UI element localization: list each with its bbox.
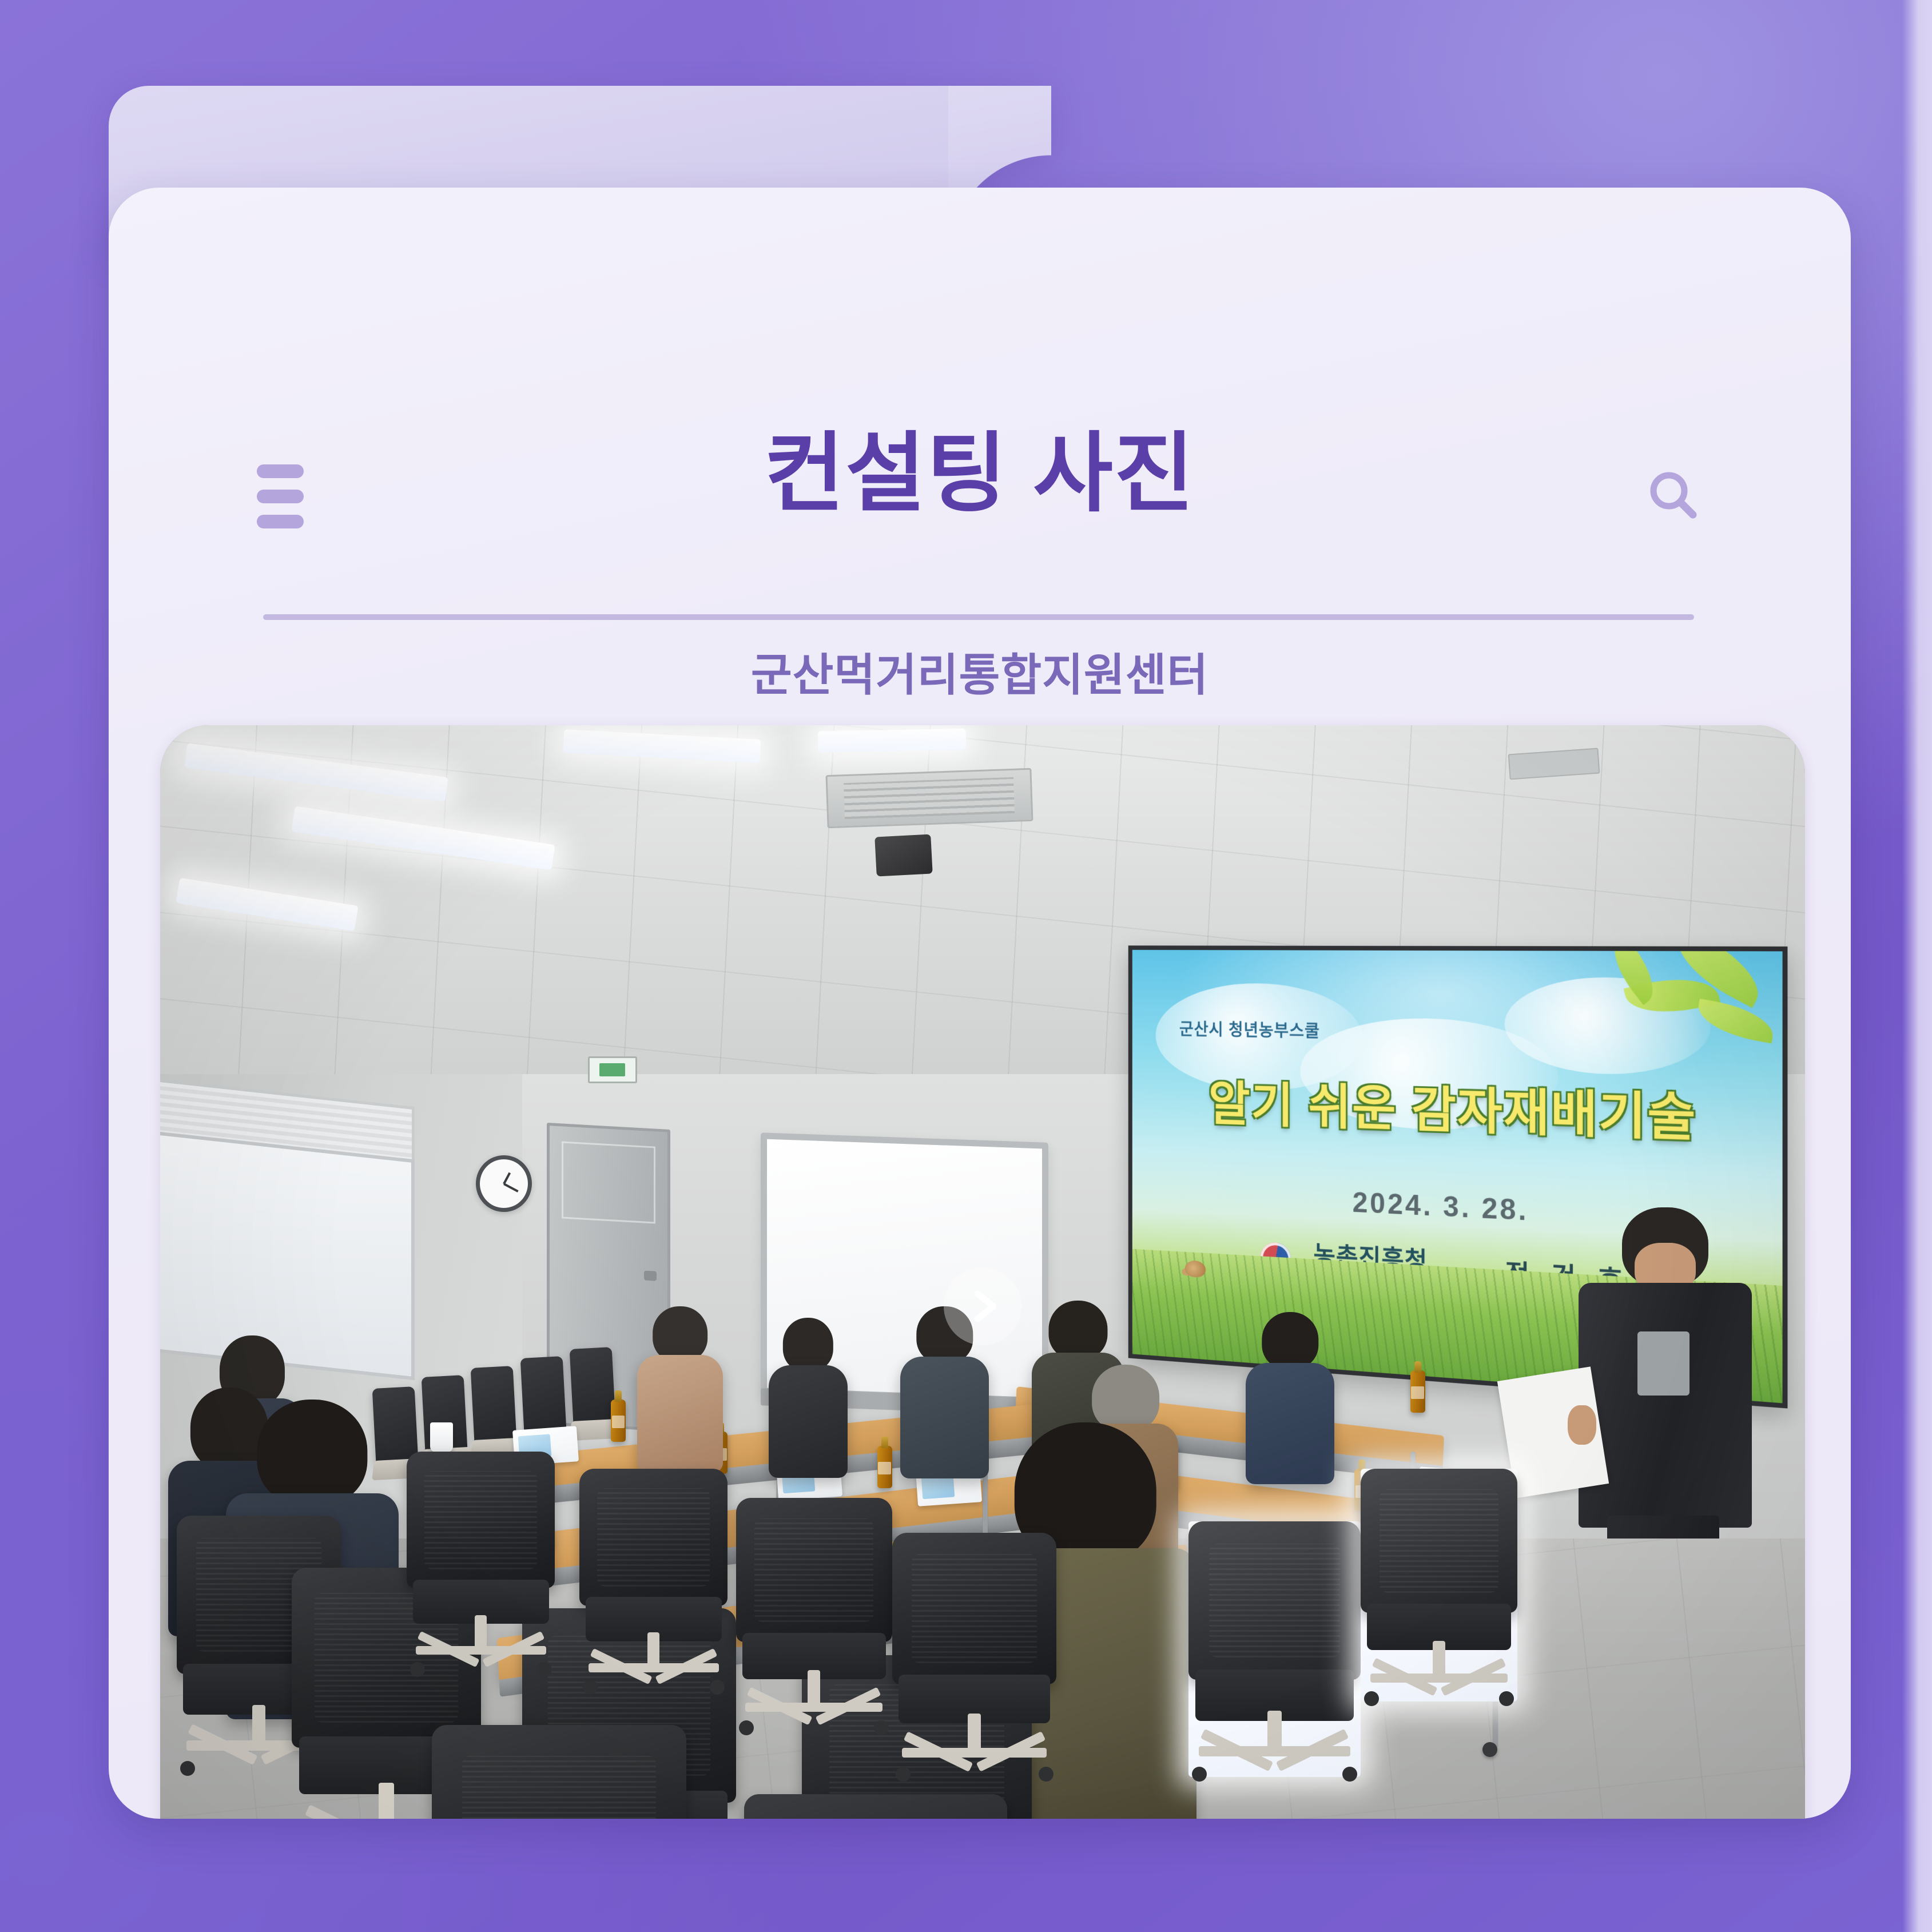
attendee-body <box>769 1365 848 1478</box>
attendee-head <box>783 1318 833 1371</box>
folded-chair <box>520 1357 566 1433</box>
ceiling-light <box>818 729 966 752</box>
attendee-head <box>1262 1312 1318 1369</box>
consulting-photo[interactable]: 군산시 청년농부스쿨 알기 쉬운 감자재배기술 2024. 3. 28. 농촌진… <box>160 725 1805 1819</box>
attendee <box>637 1306 723 1469</box>
exit-sign <box>588 1056 637 1083</box>
attendee-head <box>653 1306 707 1362</box>
slide-title: 알기 쉬운 감자재배기술 <box>1158 1064 1756 1153</box>
attendee-head <box>1048 1301 1107 1360</box>
drink-bottle <box>877 1446 892 1488</box>
office-chair <box>1188 1521 1361 1777</box>
folder-card: 컨설팅 사진 군산먹거리통합지원센터 <box>109 86 1851 1819</box>
office-chair <box>736 1498 892 1730</box>
office-chair <box>579 1469 728 1689</box>
presenter-shirt <box>1637 1331 1689 1395</box>
office-chair <box>1361 1469 1517 1701</box>
presenter-suit <box>1579 1283 1752 1528</box>
office-chair <box>407 1452 555 1672</box>
photo-scene: 군산시 청년농부스쿨 알기 쉬운 감자재배기술 2024. 3. 28. 농촌진… <box>160 725 1805 1819</box>
right-edge-highlight <box>1902 0 1932 1932</box>
attendee <box>1246 1312 1334 1481</box>
wall-clock-icon <box>476 1155 532 1213</box>
drink-bottle <box>611 1400 626 1442</box>
attendee-head <box>1092 1365 1159 1432</box>
folder-body: 컨설팅 사진 군산먹거리통합지원센터 <box>109 188 1851 1819</box>
attendee-body <box>637 1355 723 1472</box>
header-divider <box>263 614 1694 620</box>
attendee <box>769 1318 848 1474</box>
page-header: 컨설팅 사진 군산먹거리통합지원센터 <box>109 188 1851 622</box>
office-chair <box>744 1794 1007 1819</box>
attendee-head <box>257 1400 367 1506</box>
door-handle <box>643 1270 657 1281</box>
slide-kicker: 군산시 청년농부스쿨 <box>1179 1015 1319 1042</box>
play-button[interactable] <box>944 1267 1021 1345</box>
presenter-hand <box>1568 1405 1597 1445</box>
office-chair <box>892 1533 1057 1777</box>
drink-bottle <box>1410 1370 1425 1413</box>
search-icon[interactable] <box>1639 462 1708 531</box>
ceiling-speaker <box>874 834 932 877</box>
folded-chair <box>471 1366 517 1442</box>
door-panel <box>561 1141 655 1223</box>
ceiling-air-vent <box>825 768 1033 829</box>
folded-chair <box>570 1347 616 1424</box>
office-chair <box>432 1725 687 1819</box>
organization-subtitle: 군산먹거리통합지원센터 <box>109 639 1851 703</box>
attendee-body <box>1246 1363 1334 1484</box>
page-title: 컨설팅 사진 <box>109 427 1851 520</box>
paper-cup <box>430 1422 453 1452</box>
